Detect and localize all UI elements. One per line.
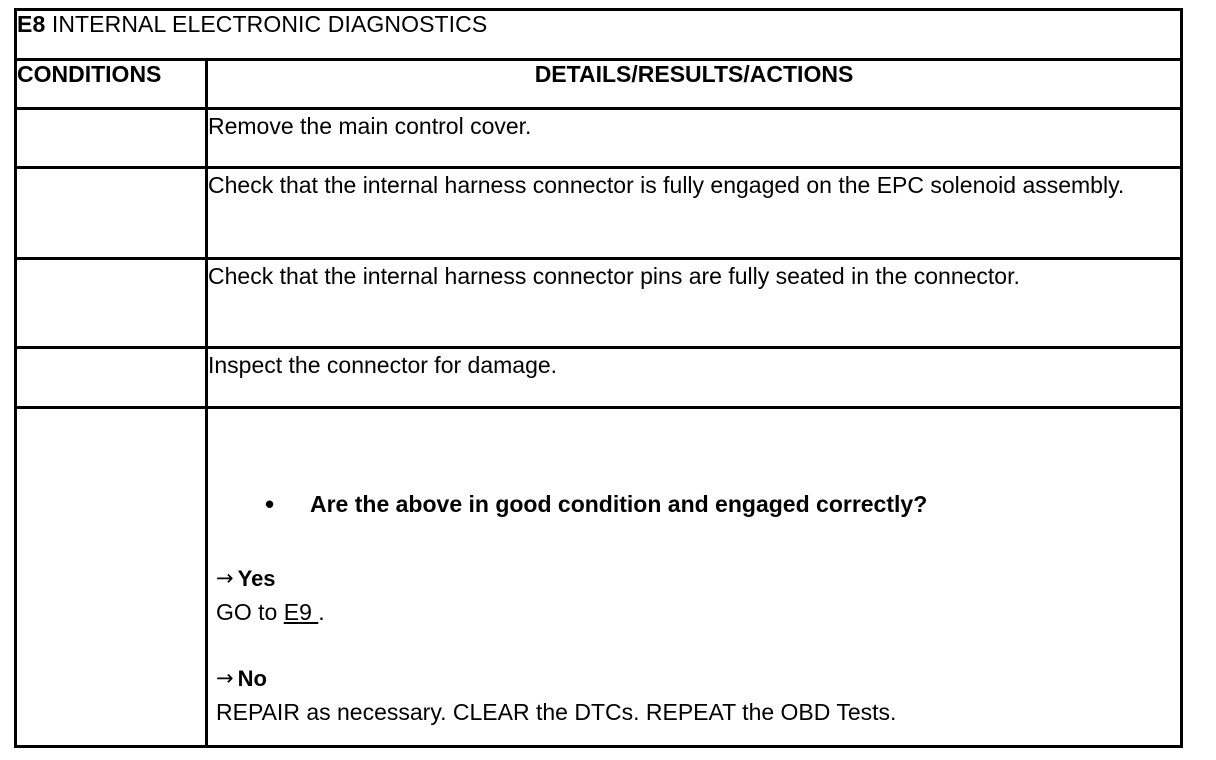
title-rest: INTERNAL ELECTRONIC DIAGNOSTICS	[45, 11, 487, 37]
arrow-right-icon: →	[216, 666, 234, 690]
branch-yes-label: Yes	[238, 566, 276, 591]
table-title-cell: E8 INTERNAL ELECTRONIC DIAGNOSTICS	[16, 10, 1182, 60]
branch-no-body: REPAIR as necessary. CLEAR the DTCs. REP…	[216, 696, 1188, 728]
table-title-row: E8 INTERNAL ELECTRONIC DIAGNOSTICS	[16, 10, 1182, 60]
decision-question-text: Are the above in good condition and enga…	[310, 489, 927, 519]
branch-no-label: No	[238, 666, 267, 691]
arrow-right-icon: →	[216, 566, 234, 590]
condition-cell-3	[16, 259, 207, 348]
details-cell-3: Check that the internal harness connecto…	[207, 259, 1182, 348]
decision-branch-no: →No REPAIR as necessary. CLEAR the DTCs.…	[216, 666, 1188, 728]
branch-yes-body: GO to E9 .	[216, 596, 1188, 628]
diagnostic-page: E8 INTERNAL ELECTRONIC DIAGNOSTICS CONDI…	[0, 0, 1216, 760]
branch-no-heading: →No	[216, 666, 1188, 692]
table-header-row: CONDITIONS DETAILS/RESULTS/ACTIONS	[16, 60, 1182, 109]
decision-block: • Are the above in good condition and en…	[208, 409, 1180, 745]
details-cell-4: Inspect the connector for damage.	[207, 348, 1182, 408]
branch-yes-prefix: GO to	[216, 599, 284, 625]
condition-cell-decision	[16, 408, 207, 747]
step-text-1: Remove the main control cover.	[208, 110, 1180, 142]
title-code: E8	[17, 11, 45, 37]
step-text-2: Check that the internal harness connecto…	[208, 169, 1180, 201]
branch-yes-reference-link[interactable]: E9	[284, 599, 319, 625]
step-text-4: Inspect the connector for damage.	[208, 349, 1180, 381]
condition-cell-1	[16, 109, 207, 168]
branch-yes-heading: →Yes	[216, 566, 1188, 592]
condition-cell-4	[16, 348, 207, 408]
decision-branch-yes: →Yes GO to E9 .	[216, 566, 1188, 628]
bullet-icon: •	[265, 489, 274, 519]
table-row: Check that the internal harness connecto…	[16, 168, 1182, 259]
page-title: E8 INTERNAL ELECTRONIC DIAGNOSTICS	[17, 11, 1180, 37]
details-cell-1: Remove the main control cover.	[207, 109, 1182, 168]
details-cell-2: Check that the internal harness connecto…	[207, 168, 1182, 259]
table-row: Remove the main control cover.	[16, 109, 1182, 168]
table-row: Inspect the connector for damage.	[16, 348, 1182, 408]
branch-yes-suffix: .	[318, 599, 324, 625]
diagnostic-table: E8 INTERNAL ELECTRONIC DIAGNOSTICS CONDI…	[14, 8, 1183, 748]
column-header-conditions: CONDITIONS	[16, 60, 207, 109]
table-decision-row: • Are the above in good condition and en…	[16, 408, 1182, 747]
details-cell-decision: • Are the above in good condition and en…	[207, 408, 1182, 747]
branch-no-prefix: REPAIR as necessary. CLEAR the DTCs. REP…	[216, 699, 896, 725]
column-header-details: DETAILS/RESULTS/ACTIONS	[207, 60, 1182, 109]
step-text-3: Check that the internal harness connecto…	[208, 260, 1180, 292]
table-row: Check that the internal harness connecto…	[16, 259, 1182, 348]
condition-cell-2	[16, 168, 207, 259]
